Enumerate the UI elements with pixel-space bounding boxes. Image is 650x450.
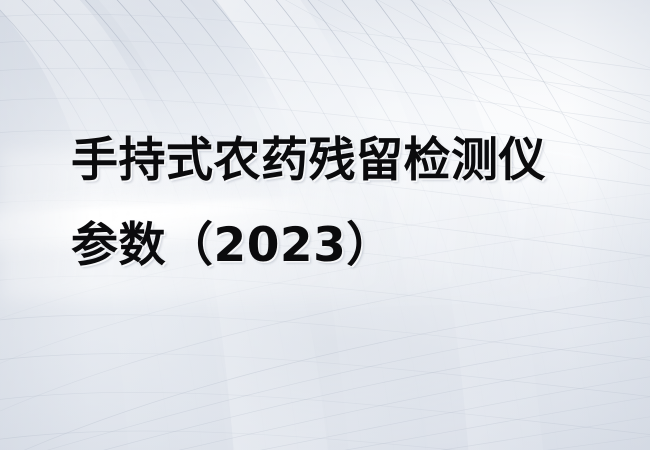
banner-title-line-2: 参数（2023） bbox=[71, 203, 591, 288]
banner-title-line-1: 手持式农药残留检测仪 bbox=[71, 118, 591, 203]
banner-title: 手持式农药残留检测仪 参数（2023） bbox=[71, 118, 591, 288]
title-banner: 手持式农药残留检测仪 参数（2023） bbox=[0, 0, 650, 450]
